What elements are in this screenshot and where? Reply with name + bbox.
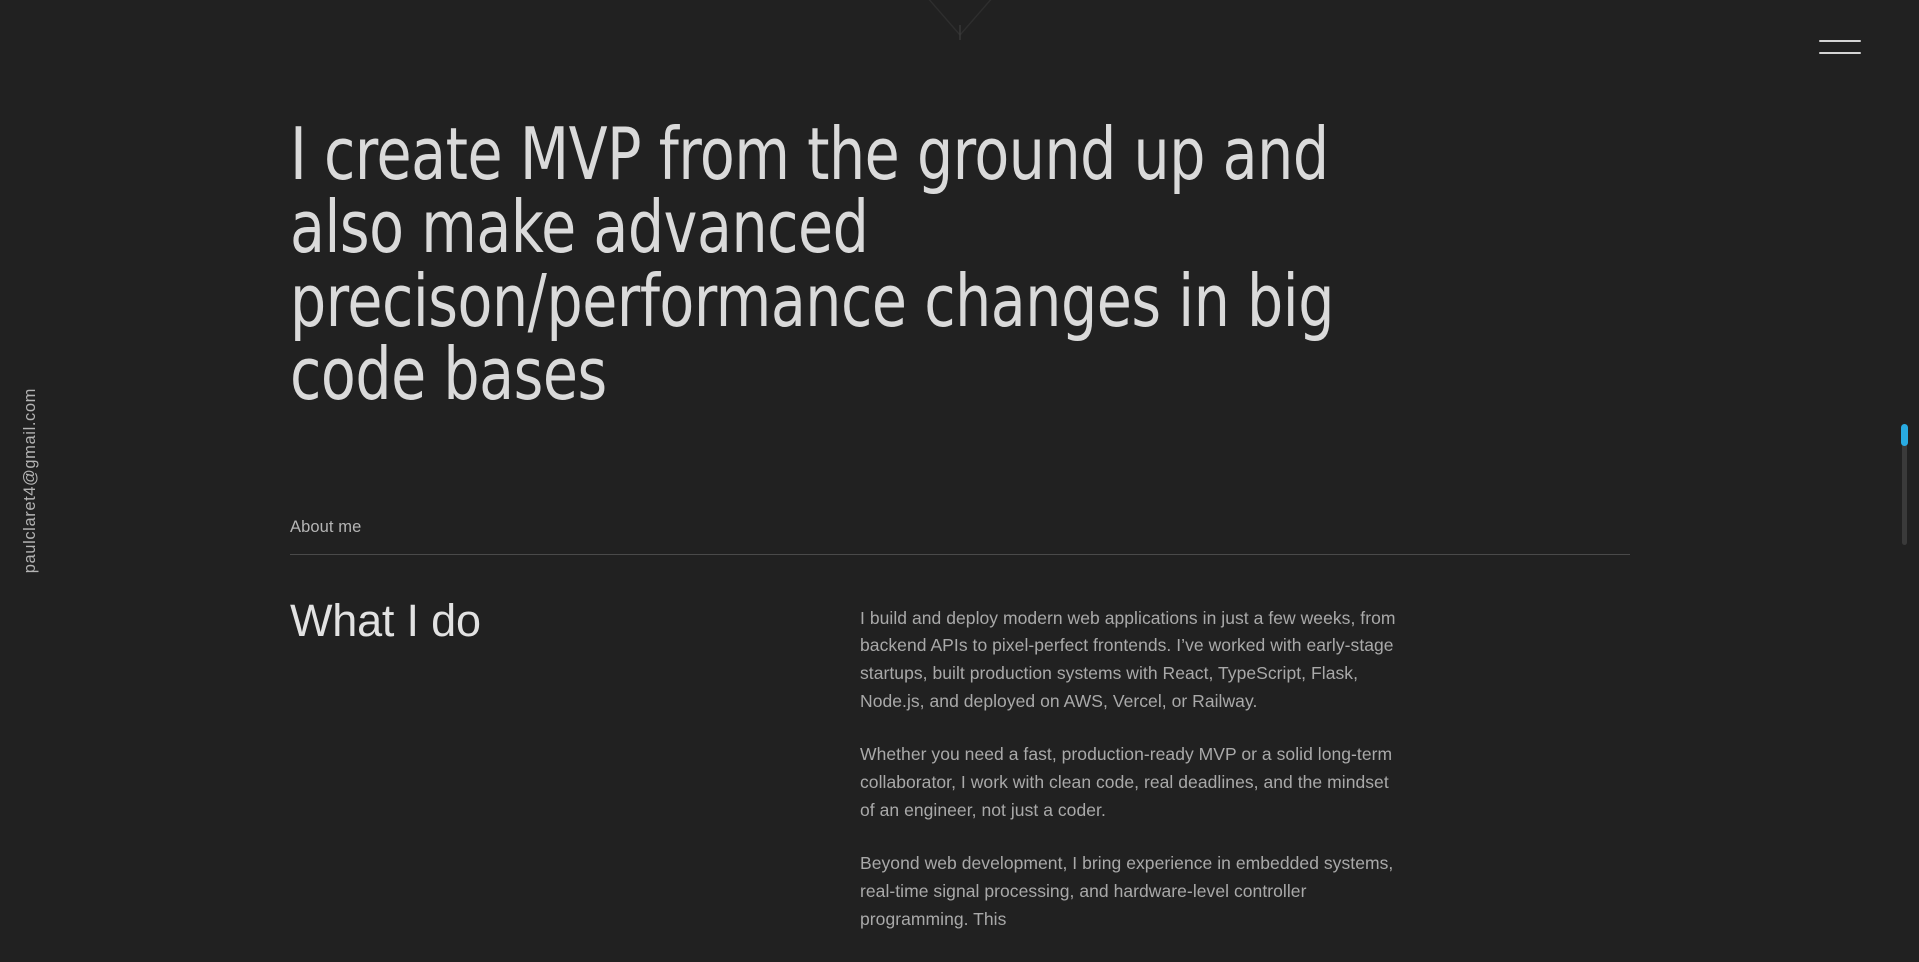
email-rail: paulclaret4@gmail.com	[0, 0, 60, 962]
section-divider	[290, 554, 1630, 555]
about-paragraph-1: I build and deploy modern web applicatio…	[860, 605, 1405, 716]
about-left-column: What I do	[290, 597, 860, 933]
about-paragraph-2: Whether you need a fast, production-read…	[860, 741, 1405, 824]
hamburger-menu-icon[interactable]	[1819, 36, 1861, 58]
scrollbar-track[interactable]	[1902, 430, 1907, 545]
about-right-column: I build and deploy modern web applicatio…	[860, 597, 1405, 933]
about-section: What I do I build and deploy modern web …	[290, 597, 1630, 933]
hero-section: I create MVP from the ground up and also…	[290, 0, 1630, 412]
page-viewport: paulclaret4@gmail.com I create MVP from …	[0, 0, 1919, 962]
section-label-about-me: About me	[290, 518, 1630, 537]
main-content: I create MVP from the ground up and also…	[290, 0, 1630, 933]
hamburger-bar-top	[1819, 40, 1861, 42]
about-paragraph-3: Beyond web development, I bring experien…	[860, 850, 1405, 933]
hero-title: I create MVP from the ground up and also…	[290, 118, 1452, 412]
page-scrollbar[interactable]	[1899, 0, 1909, 962]
about-title: What I do	[290, 597, 860, 646]
about-section-header: About me	[290, 518, 1630, 555]
contact-email-link[interactable]: paulclaret4@gmail.com	[21, 388, 40, 573]
hamburger-bar-bottom	[1819, 52, 1861, 54]
scrollbar-thumb[interactable]	[1901, 424, 1908, 446]
